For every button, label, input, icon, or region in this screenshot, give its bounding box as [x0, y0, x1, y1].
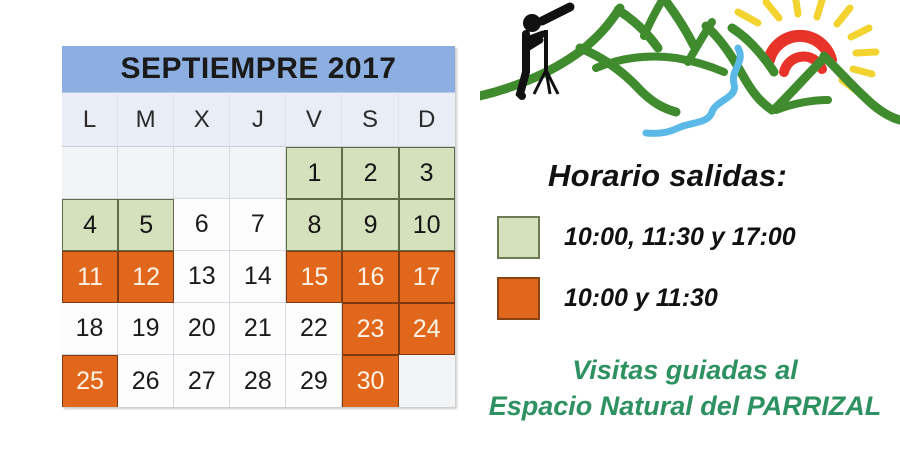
- calendar-day-cell[interactable]: 13: [174, 251, 230, 303]
- weekday-label: J: [230, 93, 286, 146]
- calendar-body: 1234567891011121314151617181920212223242…: [62, 146, 455, 407]
- calendar-day-cell[interactable]: 23: [342, 303, 398, 355]
- calendar-day-cell[interactable]: 1: [286, 147, 342, 199]
- calendar-week-row: 123: [62, 147, 455, 199]
- weekday-label: S: [342, 93, 398, 146]
- weekday-label: M: [118, 93, 174, 146]
- calendar-empty-cell: [174, 147, 230, 199]
- calendar-day-cell[interactable]: 15: [286, 251, 342, 303]
- calendar-week-row: 11121314151617: [62, 251, 455, 303]
- weekday-label: V: [286, 93, 342, 146]
- calendar-day-cell[interactable]: 21: [230, 303, 286, 355]
- tagline-line-1: Visitas guiadas al: [470, 352, 900, 388]
- legend-swatch-green: [497, 216, 540, 259]
- calendar-widget: SEPTIEMPRE 2017 L M X J V S D 1234567891…: [62, 46, 455, 407]
- calendar-empty-cell: [230, 147, 286, 199]
- calendar-title: SEPTIEMPRE 2017: [62, 46, 455, 93]
- legend-label-green: 10:00, 11:30 y 17:00: [564, 223, 796, 252]
- calendar-day-cell[interactable]: 18: [62, 303, 118, 355]
- calendar-day-cell[interactable]: 5: [118, 199, 174, 251]
- legend-label-orange: 10:00 y 11:30: [564, 284, 718, 313]
- calendar-week-row: 18192021222324: [62, 303, 455, 355]
- legend-item-green: 10:00, 11:30 y 17:00: [497, 216, 796, 259]
- tagline: Visitas guiadas al Espacio Natural del P…: [470, 352, 900, 424]
- calendar-week-row: 252627282930: [62, 355, 455, 407]
- calendar-day-cell[interactable]: 11: [62, 251, 118, 303]
- calendar-empty-cell: [399, 355, 455, 407]
- calendar-day-cell[interactable]: 2: [342, 147, 398, 199]
- calendar-day-cell[interactable]: 3: [399, 147, 455, 199]
- calendar-day-cell[interactable]: 28: [230, 355, 286, 407]
- mountains-telescope-sun-logo: [480, 0, 900, 150]
- legend-title: Horario salidas:: [548, 158, 787, 194]
- calendar-day-cell[interactable]: 19: [118, 303, 174, 355]
- calendar-day-cell[interactable]: 9: [342, 199, 398, 251]
- calendar-day-cell[interactable]: 16: [342, 251, 398, 303]
- calendar-day-cell[interactable]: 8: [286, 199, 342, 251]
- calendar-day-cell[interactable]: 10: [399, 199, 455, 251]
- calendar-week-row: 45678910: [62, 199, 455, 251]
- legend-swatch-orange: [497, 277, 540, 320]
- poster-canvas: SEPTIEMPRE 2017 L M X J V S D 1234567891…: [0, 0, 900, 470]
- weekday-label: X: [174, 93, 230, 146]
- weekday-label: L: [62, 93, 118, 146]
- calendar-day-cell[interactable]: 14: [230, 251, 286, 303]
- tagline-line-2: Espacio Natural del PARRIZAL: [470, 388, 900, 424]
- weekday-label: D: [399, 93, 455, 146]
- calendar-day-cell[interactable]: 25: [62, 355, 118, 407]
- calendar-day-cell[interactable]: 29: [286, 355, 342, 407]
- calendar-day-cell[interactable]: 30: [342, 355, 398, 407]
- calendar-day-cell[interactable]: 27: [174, 355, 230, 407]
- calendar-day-cell[interactable]: 12: [118, 251, 174, 303]
- calendar-day-cell[interactable]: 17: [399, 251, 455, 303]
- calendar-day-cell[interactable]: 22: [286, 303, 342, 355]
- calendar-day-cell[interactable]: 26: [118, 355, 174, 407]
- calendar-day-cell[interactable]: 6: [174, 199, 230, 251]
- calendar-empty-cell: [118, 147, 174, 199]
- calendar-day-cell[interactable]: 24: [399, 303, 455, 355]
- calendar-day-cell[interactable]: 20: [174, 303, 230, 355]
- calendar-empty-cell: [62, 147, 118, 199]
- calendar-day-cell[interactable]: 4: [62, 199, 118, 251]
- legend-item-orange: 10:00 y 11:30: [497, 277, 718, 320]
- calendar-day-cell[interactable]: 7: [230, 199, 286, 251]
- calendar-weekday-header: L M X J V S D: [62, 93, 455, 146]
